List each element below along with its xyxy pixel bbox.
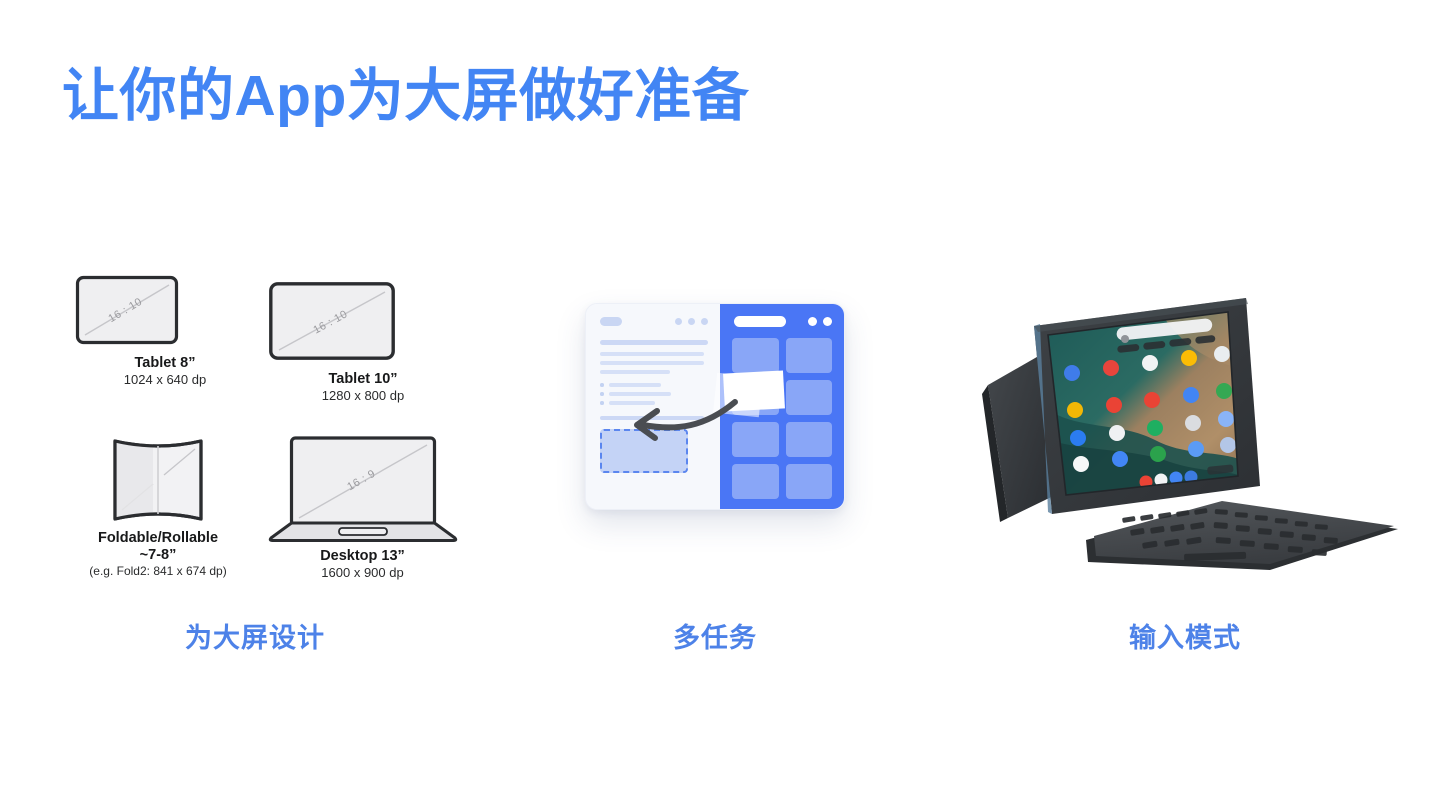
app-tile-grid bbox=[732, 338, 832, 499]
multitasking-illustration bbox=[585, 303, 845, 510]
foldable-rollable-label-size: ~7-8” bbox=[58, 547, 258, 564]
app-tile[interactable] bbox=[786, 338, 832, 373]
foldable-rollable-icon bbox=[58, 435, 258, 525]
tablet-8-spec: 1024 x 640 dp bbox=[75, 372, 255, 388]
device-size-grid: 16 : 10 Tablet 8” 1024 x 640 dp 16 : 10 bbox=[40, 275, 470, 565]
text-line bbox=[600, 370, 670, 374]
app-window-dots bbox=[808, 317, 832, 326]
tablet-10-spec: 1280 x 800 dp bbox=[268, 388, 458, 404]
chromebook-illustration bbox=[970, 290, 1400, 570]
left-pane-document bbox=[586, 304, 720, 509]
column-design-for-large-screens: 16 : 10 Tablet 8” 1024 x 640 dp 16 : 10 bbox=[40, 255, 470, 655]
column-input-modes: 输入模式 bbox=[950, 255, 1420, 655]
app-tile[interactable] bbox=[732, 464, 778, 499]
list-item bbox=[600, 401, 655, 405]
window-title-placeholder bbox=[600, 317, 622, 326]
app-search-pill[interactable] bbox=[734, 316, 786, 327]
laptop-icon: 16 : 9 bbox=[255, 435, 470, 543]
window-controls-dots bbox=[675, 318, 708, 325]
text-line bbox=[600, 416, 704, 420]
app-tile[interactable] bbox=[786, 380, 832, 415]
chromebook-screen bbox=[1048, 312, 1242, 500]
device-card-tablet-8: 16 : 10 Tablet 8” 1024 x 640 dp bbox=[75, 275, 255, 388]
detachable-keyboard bbox=[1086, 501, 1398, 570]
app-tile[interactable] bbox=[732, 422, 778, 457]
tablet-8-label: Tablet 8” bbox=[75, 355, 255, 372]
foldable-rollable-label: Foldable/Rollable bbox=[58, 530, 258, 547]
slide-root: 让你的App为大屏做好准备 16 : 10 Tablet 8” 1024 x 6… bbox=[0, 0, 1440, 810]
list-item bbox=[600, 383, 661, 387]
content-columns: 16 : 10 Tablet 8” 1024 x 640 dp 16 : 10 bbox=[0, 255, 1440, 655]
list-item bbox=[600, 392, 671, 396]
tablet-8-icon: 16 : 10 bbox=[75, 275, 255, 350]
foldable-rollable-spec: (e.g. Fold2: 841 x 674 dp) bbox=[58, 564, 258, 578]
page-title: 让你的App为大屏做好准备 bbox=[62, 62, 749, 130]
text-line bbox=[600, 340, 708, 345]
app-tile[interactable] bbox=[786, 422, 832, 457]
column-multitasking: 多任务 bbox=[480, 255, 950, 655]
device-card-desktop-13: 16 : 9 Desktop 13” 1600 x 900 dp bbox=[255, 435, 470, 581]
text-line bbox=[600, 361, 704, 365]
drop-target-zone[interactable] bbox=[600, 429, 688, 473]
desktop-13-label: Desktop 13” bbox=[255, 548, 470, 565]
app-tile[interactable] bbox=[732, 338, 778, 373]
device-card-tablet-10: 16 : 10 Tablet 10” 1280 x 800 dp bbox=[268, 281, 458, 404]
caption-multitasking: 多任务 bbox=[480, 616, 950, 655]
caption-input-modes: 输入模式 bbox=[950, 616, 1420, 655]
tablet-10-label: Tablet 10” bbox=[268, 371, 458, 388]
caption-design-for-large-screens: 为大屏设计 bbox=[40, 616, 470, 655]
app-tile[interactable] bbox=[786, 464, 832, 499]
tablet-10-icon: 16 : 10 bbox=[268, 281, 458, 366]
desktop-13-spec: 1600 x 900 dp bbox=[255, 565, 470, 581]
text-line bbox=[600, 352, 704, 356]
dragged-item[interactable] bbox=[723, 370, 785, 411]
device-card-foldable-rollable: Foldable/Rollable ~7-8” (e.g. Fold2: 841… bbox=[58, 435, 258, 579]
